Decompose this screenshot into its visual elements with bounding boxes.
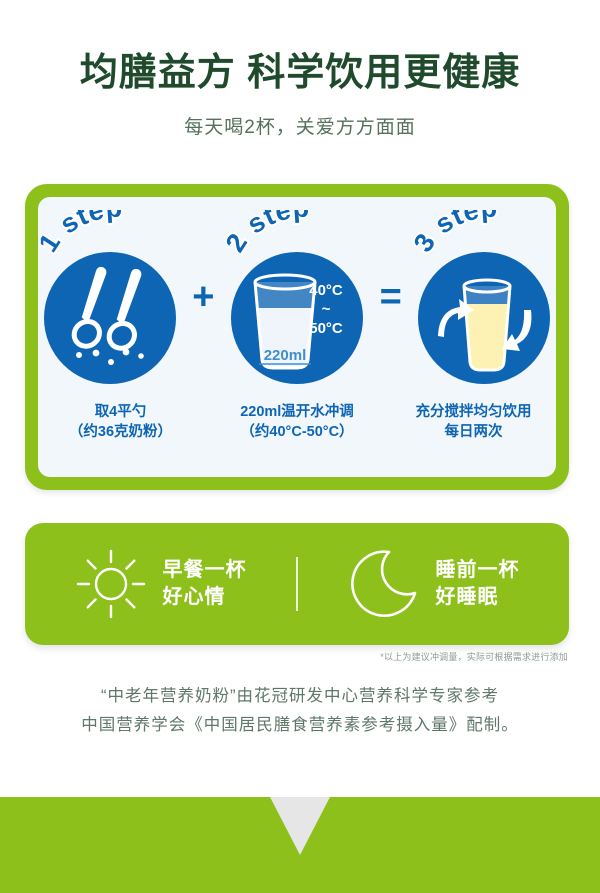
habit-night-line2: 好睡眠	[436, 584, 520, 611]
step-1: 1 step	[38, 216, 181, 384]
step-3-caption-line2: 每日两次	[391, 423, 556, 443]
two-spoons-powder-icon	[44, 252, 176, 384]
svg-text:2 step: 2 step	[225, 210, 311, 257]
step-3-badge-text: 3 step	[413, 210, 499, 257]
page-header: 均膳益方 科学饮用更健康 每天喝2杯，关爱方方面面	[0, 0, 600, 139]
habits-panel: 早餐一杯 好心情 睡前一杯 好睡眠	[25, 523, 569, 645]
steps-panel-inner: 1 step	[38, 197, 556, 477]
habit-morning-text: 早餐一杯 好心情	[163, 557, 247, 611]
stirring-glass-icon	[418, 252, 550, 384]
habit-night: 睡前一杯 好睡眠	[298, 548, 569, 620]
svg-text:3 step: 3 step	[413, 210, 499, 257]
operator-equals: =	[369, 276, 413, 325]
habit-night-text: 睡前一杯 好睡眠	[436, 557, 520, 611]
temp-lower: 50°C	[297, 320, 355, 339]
steps-panel: 1 step	[25, 184, 569, 490]
step-2: 2 step 220ml	[225, 216, 368, 384]
page-subtitle: 每天喝2杯，关爱方方面面	[0, 112, 600, 139]
legal-line2: 中国营养学会《中国居民膳食营养素参考摄入量》配制。	[0, 711, 600, 740]
caption-spacer	[203, 403, 215, 442]
temp-tilde: ~	[297, 301, 355, 320]
page-title: 均膳益方 科学饮用更健康	[0, 52, 600, 96]
step-3-caption: 充分搅拌均匀饮用 每日两次	[391, 403, 556, 442]
legal-text: “中老年营养奶粉”由花冠研发中心营养科学专家参考 中国营养学会《中国居民膳食营养…	[0, 682, 600, 740]
habit-night-line1: 睡前一杯	[436, 557, 520, 584]
caption-spacer	[380, 403, 392, 442]
step-2-caption: 220ml温开水冲调 （约40°C-50°C）	[215, 403, 380, 442]
steps-row: 1 step	[38, 215, 556, 385]
svg-text:1 step: 1 step	[38, 210, 124, 257]
step-1-circle	[44, 252, 176, 384]
step-2-volume-label: 220ml	[264, 347, 307, 364]
step-1-caption: 取4平勺 （约36克奶粉）	[38, 403, 203, 442]
step-2-caption-line2: （约40°C-50°C）	[215, 423, 380, 443]
habit-morning-line2: 好心情	[163, 584, 247, 611]
step-1-badge-text: 1 step	[38, 210, 124, 257]
step-3: 3 step	[413, 216, 556, 384]
step-2-caption-line1: 220ml温开水冲调	[215, 403, 380, 423]
step-3-circle	[418, 252, 550, 384]
step-1-caption-line2: （约36克奶粉）	[38, 423, 203, 443]
step-captions: 取4平勺 （约36克奶粉） 220ml温开水冲调 （约40°C-50°C） 充分…	[38, 403, 556, 442]
legal-line1: “中老年营养奶粉”由花冠研发中心营养科学专家参考	[0, 682, 600, 711]
step-3-caption-line1: 充分搅拌均匀饮用	[391, 403, 556, 423]
operator-plus: +	[181, 276, 225, 325]
step-2-badge-text: 2 step	[225, 210, 311, 257]
footnote: *以上为建议冲调量，实际可根据需求进行添加	[380, 650, 568, 663]
temp-upper: 40°C	[297, 282, 355, 301]
sun-icon	[75, 548, 147, 620]
step-2-circle: 220ml 40°C ~ 50°C	[231, 252, 363, 384]
step-2-temperature: 40°C ~ 50°C	[297, 282, 355, 338]
habit-morning: 早餐一杯 好心情	[25, 548, 296, 620]
moon-icon	[348, 548, 420, 620]
step-1-caption-line1: 取4平勺	[38, 403, 203, 423]
habit-morning-line1: 早餐一杯	[163, 557, 247, 584]
down-arrow-icon	[270, 797, 330, 855]
